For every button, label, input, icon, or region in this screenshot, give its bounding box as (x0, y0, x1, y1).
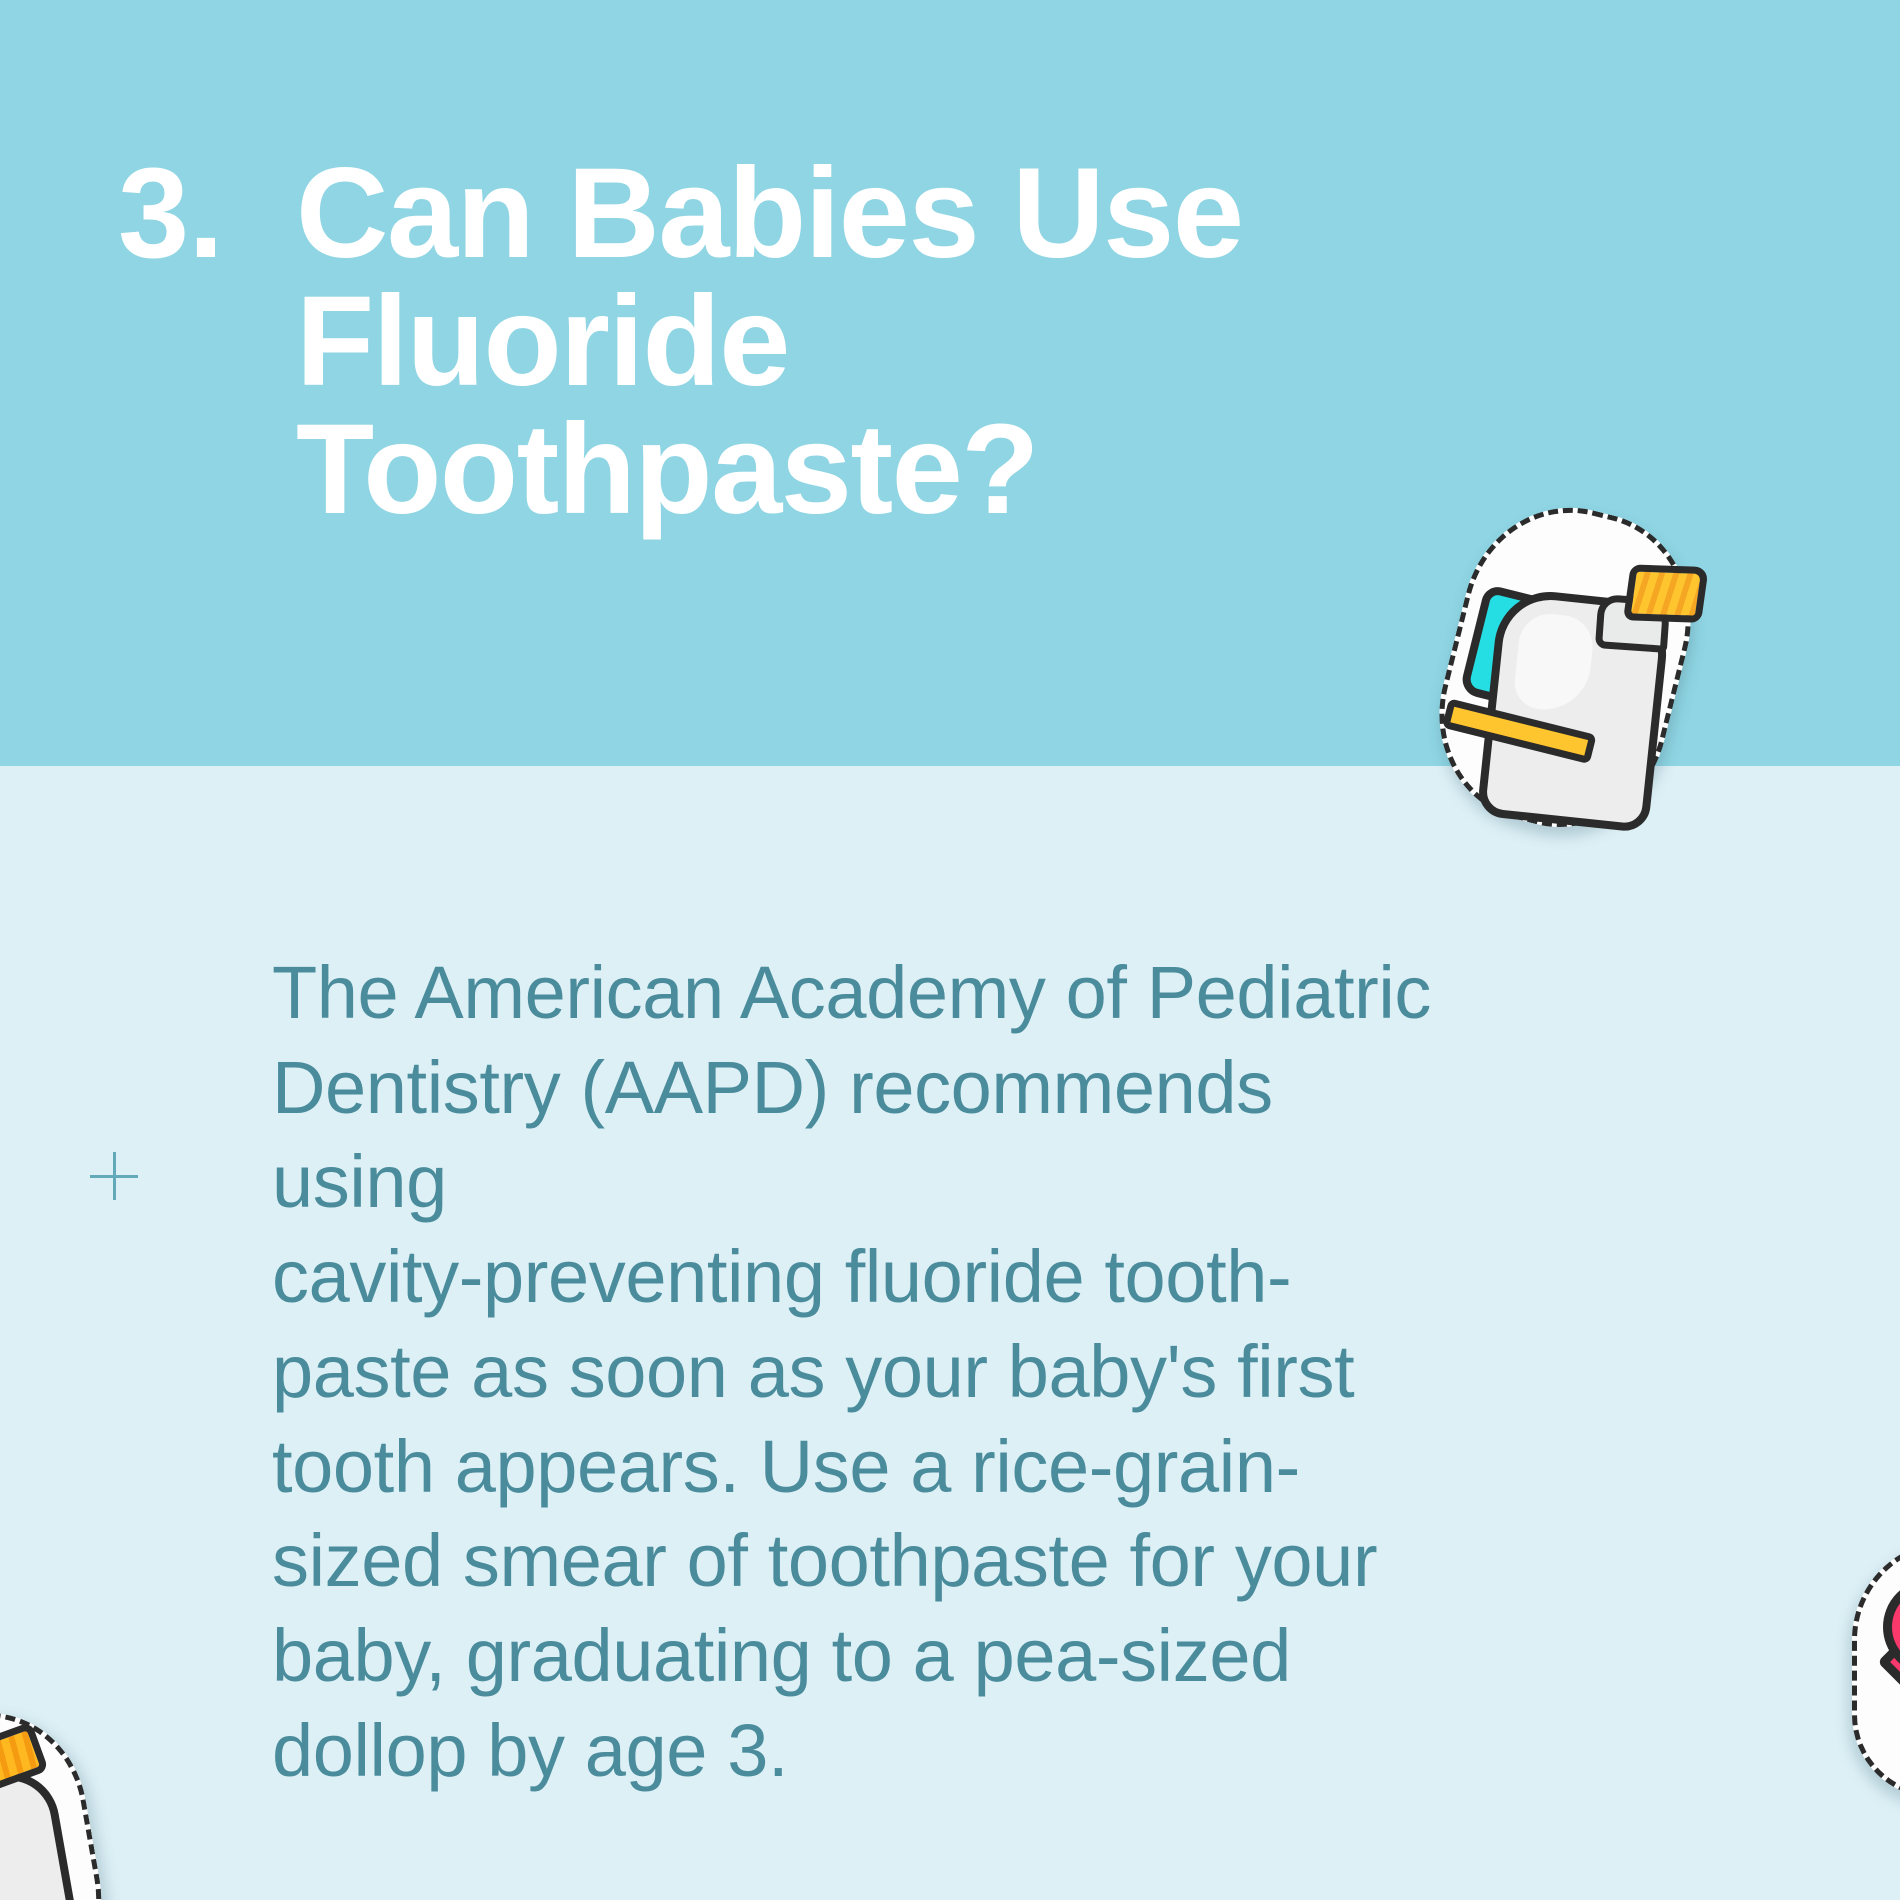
plus-cross-icon (90, 1152, 138, 1200)
toothpaste-tube-sticker-icon-bottom-left (0, 1686, 152, 1900)
title-number: 3. (118, 150, 296, 278)
page-title: 3. Can Babies Use Fluoride Toothpaste? (118, 150, 1438, 534)
body-paragraph: The American Academy of Pediatric Dentis… (272, 946, 1462, 1798)
tube-gloss (1512, 611, 1596, 714)
heart-sticker-icon (1852, 1540, 1900, 1798)
sticker-plate (1416, 486, 1714, 850)
tube-body (0, 1765, 86, 1900)
title-heading-text: Can Babies Use Fluoride Toothpaste? (296, 150, 1438, 534)
sticker-plate (1852, 1540, 1900, 1798)
plus-vertical-bar (113, 1152, 116, 1200)
sticker-plate (0, 1698, 118, 1900)
heart-shape (1883, 1579, 1900, 1745)
infographic-slide: 3. Can Babies Use Fluoride Toothpaste? T… (0, 0, 1900, 1900)
tube-cap (1623, 564, 1709, 622)
